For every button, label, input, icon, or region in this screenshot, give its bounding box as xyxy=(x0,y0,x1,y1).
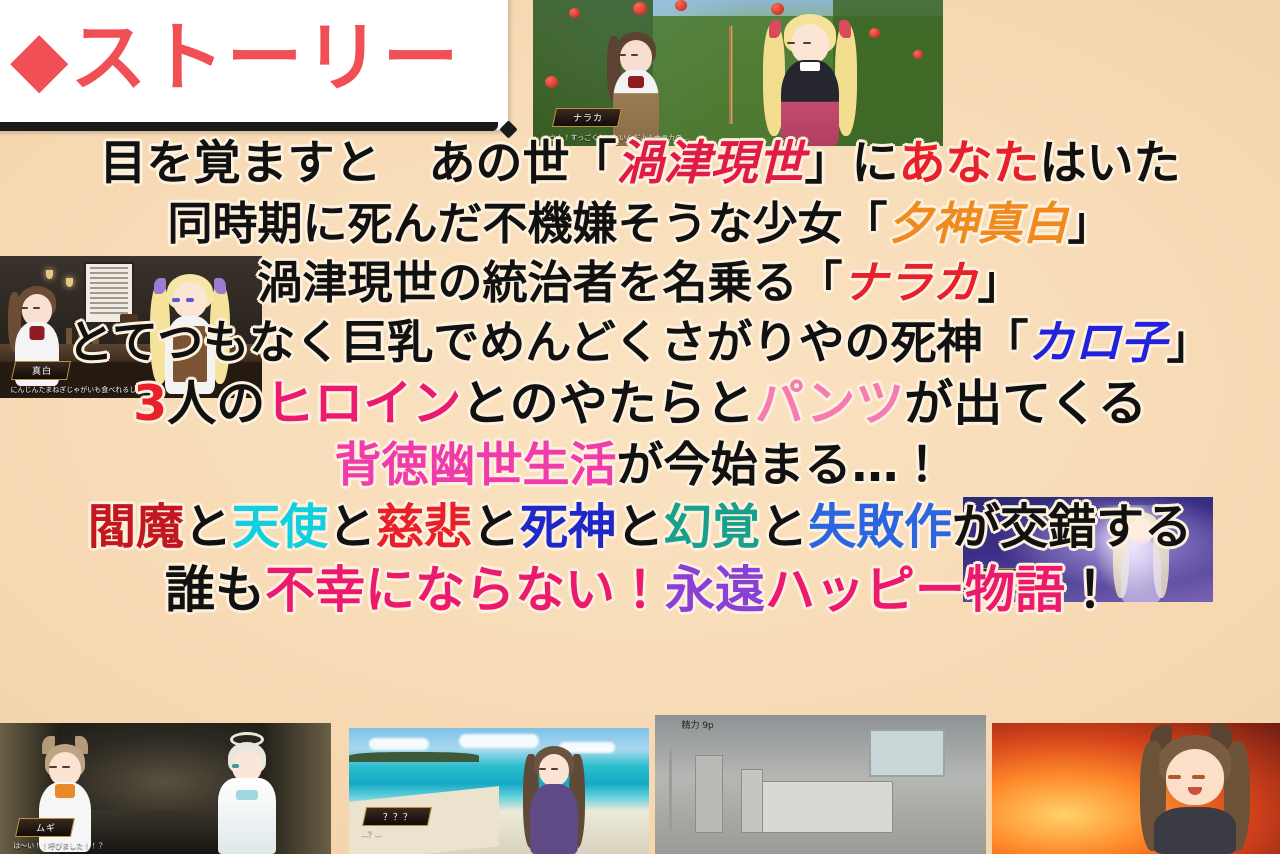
story-segment: カロ子 xyxy=(1028,315,1166,369)
story-segment: 誰も xyxy=(165,561,265,619)
story-line-1: 目を覚ますと あの世「渦津現世」にあなたはいた xyxy=(0,140,1280,187)
screenshot-sunset[interactable] xyxy=(992,723,1280,854)
story-page-stage: ナラカ うん！すっごくおいしいんだよ！ナラカの… xyxy=(0,0,1280,854)
page-title: ◆ストーリー xyxy=(10,0,460,106)
story-segment: 」に xyxy=(805,136,899,191)
story-segment: 不幸にならない！ xyxy=(265,561,665,619)
story-text-block: 目を覚ますと あの世「渦津現世」にあなたはいた 同時期に死んだ不機嫌そうな少女「… xyxy=(0,140,1280,629)
story-segment: ナラカ xyxy=(842,256,977,309)
screenshot-hospital[interactable]: 精力 9p xyxy=(655,715,986,854)
story-segment: 目を覚ますと あの世「 xyxy=(100,136,617,191)
story-segment: 夕神真白 xyxy=(887,197,1067,250)
story-segment: と xyxy=(760,499,808,555)
story-segment: ハッピー物語 xyxy=(765,561,1065,619)
story-segment: が交錯する xyxy=(952,499,1192,555)
apple xyxy=(913,50,923,59)
screenshot-beach[interactable]: ？？？ …？… xyxy=(349,728,649,854)
story-line-5: 3人のヒロインとのやたらとパンツが出てくる xyxy=(0,379,1280,428)
story-line-6: 背徳幽世生活が今始まる…！ xyxy=(0,442,1280,489)
character-naraka xyxy=(765,6,855,146)
story-segment: 背徳幽世生活 xyxy=(335,438,617,493)
status-text: 精力 9p xyxy=(681,721,972,733)
story-segment: が出てくる xyxy=(904,375,1147,432)
iv-stand xyxy=(669,749,672,831)
character-sunset xyxy=(1136,723,1254,854)
story-line-8: 誰も不幸にならない！永遠ハッピー物語！ xyxy=(0,565,1280,615)
story-segment: と xyxy=(328,499,376,555)
story-segment: 3 xyxy=(133,375,167,432)
dialogue-namebox: ナラカ xyxy=(551,108,621,127)
story-segment: 同時期に死んだ不機嫌そうな少女「 xyxy=(167,197,887,250)
character-angel xyxy=(212,732,282,854)
story-segment: 死神 xyxy=(520,499,616,555)
story-segment: と xyxy=(472,499,520,555)
bow xyxy=(236,790,258,800)
story-segment: はいた xyxy=(1040,136,1181,191)
story-segment: 永遠 xyxy=(665,560,765,619)
medical-cabinet xyxy=(695,755,723,833)
story-line-7: 閻魔と天使と慈悲と死神と幻覚と失敗作が交錯する xyxy=(0,503,1280,551)
story-segment: 人の xyxy=(167,375,265,432)
screenshot-tunnel[interactable]: ムギ は～い！！呼びました！！？ xyxy=(0,723,331,854)
screenshot-orchard[interactable]: ナラカ うん！すっごくおいしいんだよ！ナラカの… xyxy=(533,0,943,146)
story-title-banner: ◆ストーリー xyxy=(0,0,508,130)
story-segment: 幻覚 xyxy=(664,499,760,555)
story-segment: が今始まる…！ xyxy=(617,438,946,493)
ribbon xyxy=(55,784,75,798)
story-line-4: とてつもなく巨乳でめんどくさがりやの死神「カロ子」 xyxy=(0,319,1280,365)
apple xyxy=(869,28,880,38)
story-segment: とのやたらと xyxy=(461,375,755,432)
story-segment: ！ xyxy=(1065,561,1115,619)
story-segment: パンツ xyxy=(755,375,904,432)
dialogue-text: …？… xyxy=(361,830,637,839)
story-segment: 」 xyxy=(978,256,1023,309)
story-segment: 」 xyxy=(1068,197,1113,250)
story-line-3: 渦津現世の統治者を名乗る「ナラカ」 xyxy=(0,260,1280,305)
story-segment: 渦津現世 xyxy=(617,136,805,191)
dialogue-speaker: ムギ xyxy=(36,821,56,834)
dialogue-text: は～い！！呼びました！！？ xyxy=(13,842,318,851)
title-banner-underline xyxy=(0,122,498,131)
bed-headboard xyxy=(741,769,763,833)
story-segment: 天使 xyxy=(232,499,328,555)
story-segment: とてつもなく巨乳でめんどくさがりやの死神「 xyxy=(68,315,1029,369)
apple xyxy=(633,2,647,15)
apple xyxy=(545,76,558,88)
character-maside xyxy=(605,26,667,146)
hospital-bed xyxy=(741,781,893,833)
window xyxy=(869,729,945,777)
story-segment: 」 xyxy=(1166,315,1212,369)
story-segment: あなた xyxy=(899,136,1040,191)
story-segment: と xyxy=(616,499,664,555)
story-segment: 慈悲 xyxy=(376,499,472,555)
story-line-2: 同時期に死んだ不機嫌そうな少女「夕神真白」 xyxy=(0,201,1280,246)
island xyxy=(349,752,479,762)
apple xyxy=(569,8,580,18)
story-segment: 閻魔 xyxy=(88,499,184,555)
ladder xyxy=(729,26,733,124)
apple xyxy=(675,0,687,11)
dialogue-speaker: ？？？ xyxy=(383,810,413,823)
story-segment: 失敗作 xyxy=(808,499,952,555)
story-segment: ヒロイン xyxy=(265,375,461,432)
dialogue-namebox: ？？？ xyxy=(362,807,432,826)
story-segment: 渦津現世の統治者を名乗る「 xyxy=(257,256,842,309)
story-segment: と xyxy=(184,499,232,555)
dialogue-speaker: ナラカ xyxy=(573,111,603,124)
dialogue-namebox: ムギ xyxy=(15,818,75,837)
